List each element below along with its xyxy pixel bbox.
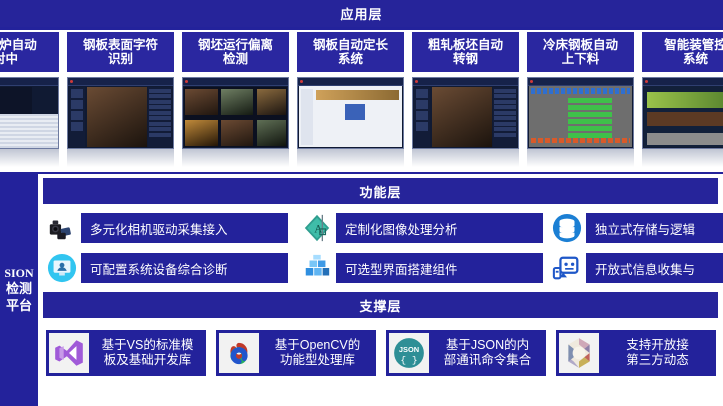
open-info-icon — [548, 250, 586, 286]
support-layer-title: 支撑层 — [359, 296, 401, 315]
function-item[interactable]: 独立式存储与逻辑 — [548, 210, 723, 246]
application-card[interactable]: 钢板表面字符识别 — [67, 32, 174, 167]
function-layer-title: 功能层 — [359, 182, 401, 201]
application-card-title: 冷床钢板自动上下料 — [527, 32, 634, 72]
function-item[interactable]: 可配置系统设备综合诊断 — [43, 250, 288, 286]
function-column: 多元化相机驱动采集接入可配置系统设备综合诊断 — [43, 210, 288, 290]
support-tile[interactable]: 支持开放接第三方动态 — [556, 330, 716, 376]
json-icon: JSON{ } — [389, 333, 429, 373]
application-card-screenshot — [527, 77, 634, 149]
application-card-reflection — [182, 149, 289, 167]
application-card-title: 钢坯运行偏离检测 — [182, 32, 289, 72]
function-item[interactable]: 多元化相机驱动采集接入 — [43, 210, 288, 246]
support-tile-line2: 板及基础开发库 — [104, 353, 192, 367]
function-column: 独立式存储与逻辑开放式信息收集与 — [548, 210, 723, 290]
application-card-title: 钢板表面字符识别 — [67, 32, 174, 72]
application-card-screenshot — [182, 77, 289, 149]
application-card[interactable]: 智能装管控系统 — [642, 32, 723, 167]
function-item-label: 独立式存储与逻辑 — [586, 213, 723, 243]
support-tile-line1: 支持开放接 — [626, 338, 689, 352]
function-item[interactable]: 可选型界面搭建组件 — [298, 250, 543, 286]
application-card[interactable]: 钢板自动定长系统 — [297, 32, 404, 167]
platform-brand-strip: SION 检测 平台 — [0, 174, 38, 406]
database-icon — [548, 210, 586, 246]
application-layer-header: 应用层 — [0, 0, 723, 27]
function-item-label: 开放式信息收集与 — [586, 253, 723, 283]
brand-line-cn-2: 平台 — [6, 298, 32, 314]
application-card-title: 加热炉自动对中 — [0, 32, 59, 72]
brand-line-cn-1: 检测 — [6, 281, 32, 297]
function-items-grid: 多元化相机驱动采集接入可配置系统设备综合诊断A定制化图像处理分析可选型界面搭建组… — [43, 210, 723, 288]
application-layer-title: 应用层 — [340, 4, 382, 23]
application-card-reflection — [297, 149, 404, 167]
opencv-icon — [219, 333, 259, 373]
application-card-screenshot — [297, 77, 404, 149]
support-layer-header: 支撑层 — [43, 292, 718, 318]
application-card-screenshot — [642, 77, 723, 149]
svg-text:JSON: JSON — [399, 345, 419, 354]
support-tile-text: 基于VS的标准模板及基础开发库 — [89, 338, 206, 368]
application-card-reflection — [642, 149, 723, 167]
support-tile-line1: 基于OpenCV的 — [275, 338, 360, 352]
diagnostics-icon — [43, 250, 81, 286]
layers-panel: 功能层 多元化相机驱动采集接入可配置系统设备综合诊断A定制化图像处理分析可选型界… — [38, 174, 723, 406]
application-card-reflection — [67, 149, 174, 167]
support-tile-text: 支持开放接第三方动态 — [599, 338, 716, 368]
function-item-label: 可选型界面搭建组件 — [336, 253, 543, 283]
application-card-reflection — [527, 149, 634, 167]
application-card-screenshot — [67, 77, 174, 149]
application-card-title: 粗轧板坯自动转钢 — [412, 32, 519, 72]
application-card[interactable]: 粗轧板坯自动转钢 — [412, 32, 519, 167]
hexagon-icon — [559, 333, 599, 373]
application-card[interactable]: 钢坯运行偏离检测 — [182, 32, 289, 167]
support-tile-line2: 功能型处理库 — [280, 353, 355, 367]
function-item[interactable]: 开放式信息收集与 — [548, 250, 723, 286]
application-card-title: 智能装管控系统 — [642, 32, 723, 72]
application-card[interactable]: 加热炉自动对中 — [0, 32, 59, 167]
support-tile[interactable]: JSON{ }基于JSON的内部通讯命令集合 — [386, 330, 546, 376]
support-tile[interactable]: 基于VS的标准模板及基础开发库 — [46, 330, 206, 376]
application-card-reflection — [0, 149, 59, 167]
application-card-reflection — [412, 149, 519, 167]
support-tile[interactable]: 基于OpenCV的功能型处理库 — [216, 330, 376, 376]
function-column: A定制化图像处理分析可选型界面搭建组件 — [298, 210, 543, 290]
support-tile-line2: 部通讯命令集合 — [444, 353, 532, 367]
support-tile-line1: 基于VS的标准模 — [102, 338, 194, 352]
support-tile-line1: 基于JSON的内 — [446, 338, 529, 352]
application-card[interactable]: 冷床钢板自动上下料 — [527, 32, 634, 167]
application-card-screenshot — [412, 77, 519, 149]
visual-studio-icon — [49, 333, 89, 373]
application-card-screenshot — [0, 77, 59, 149]
brand-line-en: SION — [4, 266, 33, 281]
support-tile-line2: 第三方动态 — [626, 353, 689, 367]
function-item-label: 可配置系统设备综合诊断 — [81, 253, 288, 283]
image-processing-icon: A — [298, 210, 336, 246]
ui-blocks-icon — [298, 250, 336, 286]
function-layer-header: 功能层 — [43, 178, 718, 204]
application-cards-strip: 加热炉自动对中钢板表面字符识别钢坯运行偏离检测钢板自动定长系统粗轧板坯自动转钢冷… — [0, 30, 723, 172]
support-tile-text: 基于OpenCV的功能型处理库 — [259, 338, 376, 368]
svg-text:{ }: { } — [400, 355, 417, 366]
support-tiles-row: 基于VS的标准模板及基础开发库基于OpenCV的功能型处理库JSON{ }基于J… — [46, 330, 723, 376]
function-item[interactable]: A定制化图像处理分析 — [298, 210, 543, 246]
application-card-title: 钢板自动定长系统 — [297, 32, 404, 72]
support-tile-text: 基于JSON的内部通讯命令集合 — [429, 338, 546, 368]
cameras-icon — [43, 210, 81, 246]
function-item-label: 定制化图像处理分析 — [336, 213, 543, 243]
function-item-label: 多元化相机驱动采集接入 — [81, 213, 288, 243]
